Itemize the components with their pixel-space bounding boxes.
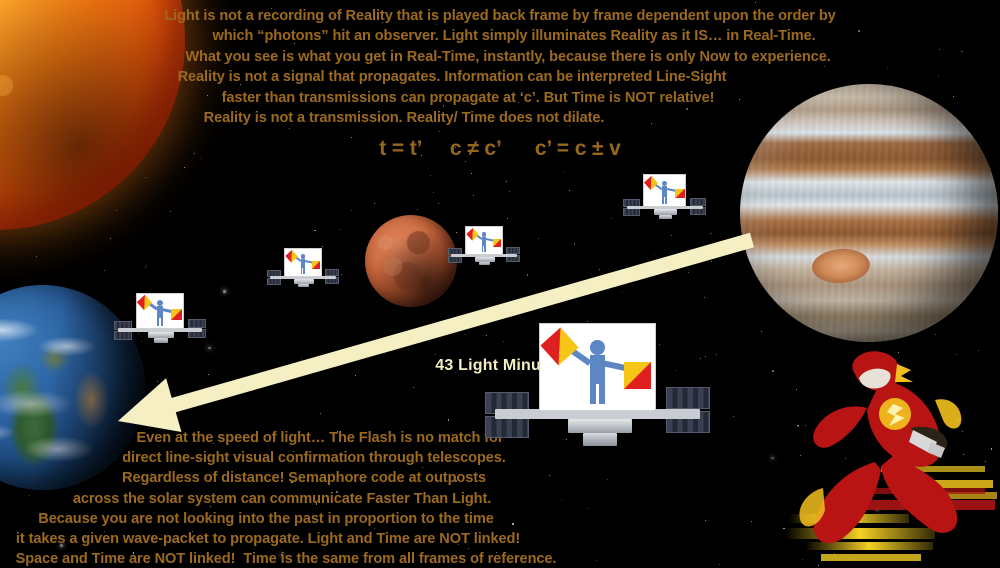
signalman-leg-left (157, 317, 159, 326)
star-icon (439, 131, 440, 132)
top-text-line-3: What you see is what you get in Real-Tim… (8, 47, 1000, 67)
star-icon (473, 195, 474, 196)
star-icon (755, 2, 756, 3)
star-icon (433, 192, 434, 193)
station-module (475, 257, 495, 262)
star-icon (622, 292, 623, 293)
bottom-text-line-3: Regardless of distance! Semaphore code a… (0, 468, 804, 488)
signalman-leg-right (484, 245, 486, 252)
star-icon (341, 274, 342, 275)
star-icon (208, 347, 211, 350)
solar-panel-icon (114, 331, 132, 340)
bottom-text-line-7: Space and Time are NOT linked! Time is t… (0, 549, 786, 568)
star-icon (417, 209, 418, 210)
semaphore-outpost-iss-main (519, 328, 676, 455)
star-icon (430, 175, 431, 176)
semaphore-flag-icon (624, 362, 651, 389)
star-icon (314, 230, 316, 232)
mars-surface-markings (365, 215, 457, 307)
signalman-leg-left (662, 196, 664, 204)
bottom-text-line-4: across the solar system can communicate … (0, 489, 782, 509)
star-icon (704, 297, 705, 298)
star-icon (36, 256, 37, 257)
bottom-text-line-5: Because you are not looking into the pas… (0, 509, 766, 529)
star-icon (374, 203, 375, 204)
signalman-head (590, 340, 605, 355)
semaphore-outpost-inner (278, 250, 328, 291)
star-icon (157, 381, 158, 382)
star-icon (465, 334, 466, 335)
star-icon (104, 270, 105, 271)
star-icon (527, 274, 529, 276)
station-module-lower (154, 338, 168, 343)
semaphore-flag-icon (493, 239, 502, 248)
signalman-leg-left (590, 382, 596, 404)
station-module-lower (298, 284, 309, 288)
star-icon (506, 181, 507, 182)
semaphore-flag-icon (171, 309, 182, 320)
bottom-paragraph: Even at the speed of light… The Flash is… (0, 428, 1000, 568)
top-text-line-6: Reality is not a transmission. Reality/ … (0, 108, 904, 128)
star-icon (355, 375, 356, 376)
top-text-line-5: faster than transmissions can propagate … (0, 88, 968, 108)
star-icon (503, 341, 504, 342)
station-module-lower (583, 433, 617, 445)
signalman-leg-right (303, 267, 305, 274)
signalman-leg-left (482, 245, 484, 252)
star-icon (184, 167, 185, 168)
distance-label: 43 Light Minutes (0, 357, 1000, 375)
semaphore-outpost-outer (636, 176, 694, 223)
star-icon (448, 419, 450, 421)
top-text-line-4: Reality is not a signal that propagates.… (0, 67, 952, 87)
star-icon (145, 267, 146, 268)
star-icon (179, 412, 180, 413)
station-module-lower (479, 262, 490, 266)
star-icon (587, 321, 588, 322)
signalman-leg-right (665, 196, 667, 204)
star-icon (116, 210, 117, 211)
star-icon (322, 246, 323, 247)
top-paragraph: Light is not a recording of Reality that… (0, 6, 1000, 128)
signalman-leg-left (301, 267, 303, 274)
solar-panel-icon (448, 256, 462, 263)
signalman-leg-right (161, 317, 163, 326)
space-infographic-canvas: Light is not a recording of Reality that… (0, 0, 1000, 568)
star-icon (538, 238, 539, 239)
star-icon (351, 210, 352, 211)
semaphore-flag-icon (312, 261, 321, 270)
solar-panel-icon (325, 269, 339, 276)
station-module (568, 419, 632, 434)
bottom-text-line-6: it takes a given wave-packet to propagat… (0, 529, 768, 549)
star-icon (438, 203, 439, 204)
star-icon (435, 354, 436, 355)
star-icon (471, 173, 472, 174)
solar-panel-icon (666, 387, 710, 409)
station-module-lower (659, 215, 672, 220)
star-icon (170, 211, 171, 212)
star-icon (223, 290, 226, 293)
star-icon (671, 235, 672, 236)
star-icon (716, 354, 717, 355)
solar-panel-icon (690, 198, 706, 206)
star-icon (711, 261, 712, 262)
star-icon (733, 416, 734, 417)
star-icon (569, 190, 570, 191)
solar-panel-icon (188, 319, 206, 328)
solar-panel-icon (506, 247, 520, 254)
semaphore-flag-icon (675, 189, 685, 199)
star-icon (486, 335, 487, 336)
equation-line: t = t’ c ≠ c’ c’ = c ± v (0, 136, 1000, 162)
star-icon (365, 352, 366, 353)
solar-panel-icon (623, 208, 639, 216)
mars-body (365, 215, 457, 307)
top-text-line-2: which “photons” hit an observer. Light s… (14, 26, 1000, 46)
star-icon (456, 232, 457, 233)
star-icon (509, 191, 510, 192)
star-icon (564, 171, 565, 172)
solar-panel-icon (485, 416, 529, 438)
star-icon (710, 233, 712, 235)
star-icon (654, 254, 655, 255)
star-icon (320, 413, 321, 414)
solar-panel-icon (267, 278, 281, 285)
star-icon (110, 238, 111, 239)
bottom-text-line-2: direct line-sight visual confirmation th… (0, 448, 814, 468)
star-icon (146, 265, 147, 266)
star-icon (599, 269, 600, 270)
star-icon (340, 229, 341, 230)
star-icon (611, 218, 612, 219)
semaphore-outpost-mars (459, 228, 509, 269)
star-icon (574, 243, 576, 245)
star-icon (145, 177, 146, 178)
star-icon (413, 387, 414, 388)
semaphore-outpost-earth-orbit (128, 295, 192, 347)
station-module (654, 209, 677, 214)
top-text-line-1: Light is not a recording of Reality that… (0, 6, 1000, 26)
station-module (294, 279, 314, 284)
star-icon (688, 272, 689, 273)
star-icon (507, 218, 508, 219)
signalman-leg-right (599, 382, 605, 404)
